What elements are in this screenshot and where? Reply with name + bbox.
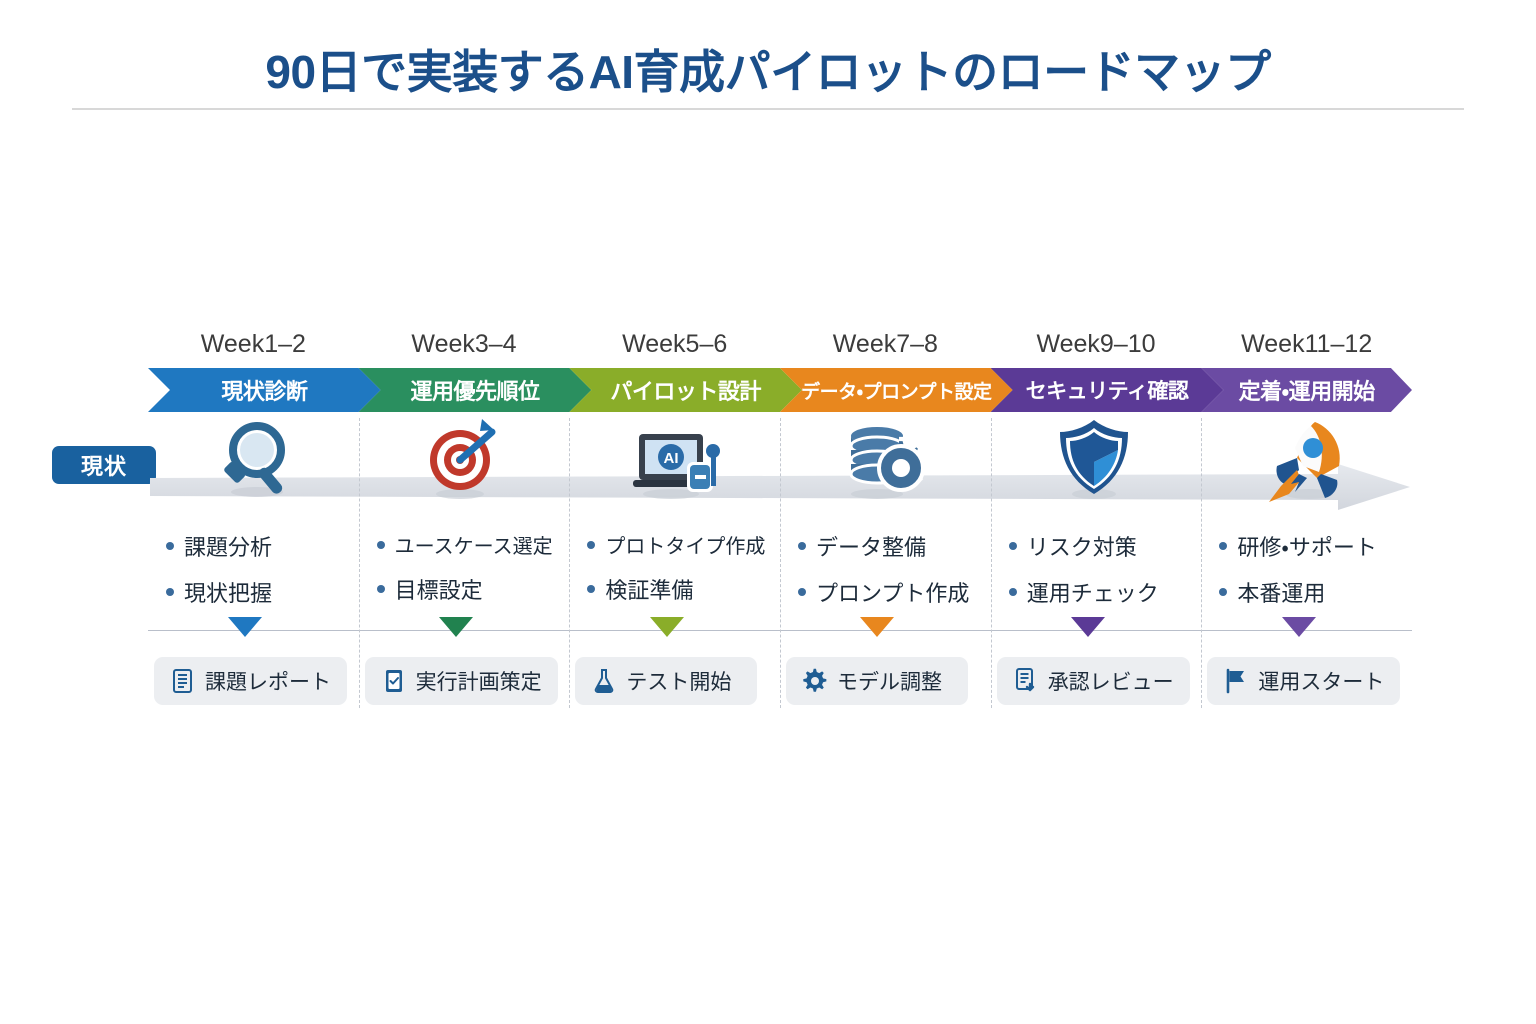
- database-gear-icon: [780, 418, 991, 518]
- bullet-label: 運用チェック: [1027, 576, 1159, 608]
- bullet-dot-icon: [166, 588, 174, 596]
- bullet-cell-3: プロトタイプ作成検証準備: [569, 530, 780, 622]
- deliverable-chip-2[interactable]: 実行計画策定: [365, 657, 558, 705]
- title-divider: [72, 108, 1464, 110]
- bullet-dot-icon: [587, 541, 595, 549]
- week-label-row: Week1–2Week3–4Week5–6Week7–8Week9–10Week…: [148, 330, 1412, 364]
- deliverable-chip-1[interactable]: 課題レポート: [154, 657, 347, 705]
- document-check-icon: [1013, 668, 1039, 694]
- week-label: Week3–4: [359, 330, 570, 359]
- rocket-icon: [1201, 418, 1412, 518]
- bullet-item: 研修・サポート: [1219, 530, 1412, 562]
- bullet-item: 課題分析: [166, 530, 359, 562]
- week-label: Week7–8: [780, 330, 991, 359]
- bullet-label: 目標設定: [395, 573, 483, 605]
- header: 90日で実装するAI育成パイロットのロードマップ: [0, 0, 1536, 112]
- deliverable-cell-3: テスト開始: [569, 655, 780, 707]
- bullet-item: 検証準備: [587, 573, 780, 605]
- phase-marker-triangle-2: [439, 617, 473, 637]
- bullet-cell-1: 課題分析現状把握: [148, 530, 359, 622]
- bullet-dot-icon: [798, 588, 806, 596]
- bullet-item: プロトタイプ作成: [587, 530, 780, 559]
- deliverable-label: 承認レビュー: [1048, 666, 1174, 696]
- phase-chevron-2[interactable]: 運用優先順位: [359, 368, 592, 412]
- bullet-dot-icon: [377, 585, 385, 593]
- flag-icon: [1223, 668, 1249, 694]
- bullet-item: プロンプト作成: [798, 576, 991, 608]
- bullet-dot-icon: [1009, 542, 1017, 550]
- bullet-cell-2: ユースケース選定目標設定: [359, 530, 570, 622]
- bullet-label: プロトタイプ作成: [605, 530, 765, 559]
- bullet-label: リスク対策: [1027, 530, 1137, 562]
- week-cell-4: Week7–8: [780, 330, 991, 364]
- laptop-ai-icon: AI: [569, 418, 780, 518]
- deliverable-label: 運用スタート: [1258, 666, 1384, 696]
- deliverable-cell-5: 承認レビュー: [991, 655, 1202, 707]
- bullet-item: データ整備: [798, 530, 991, 562]
- checklist-icon: [381, 668, 407, 694]
- phase-label: セキュリティ確認: [1026, 375, 1189, 405]
- phase-marker-triangle-3: [650, 617, 684, 637]
- deliverable-label: 課題レポート: [205, 666, 331, 696]
- gear-icon: [802, 668, 828, 694]
- deliverable-cell-1: 課題レポート: [148, 655, 359, 707]
- bullet-dot-icon: [377, 541, 385, 549]
- magnifier-icon: [148, 418, 359, 518]
- phase-chevron-5[interactable]: セキュリティ確認: [991, 368, 1224, 412]
- phase-label: データ・プロンプト設定: [801, 377, 991, 404]
- week-cell-3: Week5–6: [569, 330, 780, 364]
- deliverable-chip-3[interactable]: テスト開始: [575, 657, 757, 705]
- flask-icon: [591, 668, 617, 694]
- phase-marker-triangle-4: [860, 617, 894, 637]
- deliverable-label: 実行計画策定: [416, 666, 542, 696]
- phase-label: パイロット設計: [610, 374, 761, 406]
- deliverable-label: モデル調整: [837, 666, 942, 696]
- phase-marker-triangle-1: [228, 617, 262, 637]
- phase-chevron-band: 現状診断運用優先順位パイロット設計データ・プロンプト設定セキュリティ確認定着・運…: [148, 368, 1412, 412]
- bullet-label: 検証準備: [605, 573, 693, 605]
- bullet-cell-5: リスク対策運用チェック: [991, 530, 1202, 622]
- bullet-item: ユースケース選定: [377, 530, 570, 559]
- bullet-label: ユースケース選定: [395, 530, 553, 559]
- phase-label: 現状診断: [221, 374, 307, 406]
- bullet-label: プロンプト作成: [816, 576, 969, 608]
- week-label: Week5–6: [569, 330, 780, 359]
- phase-marker-triangle-5: [1071, 617, 1105, 637]
- week-label: Week11–12: [1201, 330, 1412, 359]
- bullet-cell-4: データ整備プロンプト作成: [780, 530, 991, 622]
- deliverable-cell-2: 実行計画策定: [359, 655, 570, 707]
- deliverable-cell-4: モデル調整: [780, 655, 991, 707]
- bullet-label: 研修・サポート: [1237, 530, 1376, 562]
- week-label: Week9–10: [991, 330, 1202, 359]
- shield-icon: [991, 418, 1202, 518]
- phase-label: 定着・運用開始: [1239, 374, 1375, 406]
- deliverable-label: テスト開始: [626, 666, 731, 696]
- phase-chevron-1[interactable]: 現状診断: [148, 368, 381, 412]
- phase-chevron-6[interactable]: 定着・運用開始: [1201, 368, 1412, 412]
- week-cell-5: Week9–10: [991, 330, 1202, 364]
- bullet-dot-icon: [166, 542, 174, 550]
- roadmap-diagram: 現状 Week1–2Week3–4Week5–6Week7–8Week9–10W…: [148, 330, 1412, 720]
- week-cell-1: Week1–2: [148, 330, 359, 364]
- column-separator-3: [780, 418, 781, 708]
- bullet-cell-6: 研修・サポート本番運用: [1201, 530, 1412, 622]
- status-badge: 現状: [52, 446, 156, 484]
- phase-chevron-3[interactable]: パイロット設計: [569, 368, 802, 412]
- bullet-item: 本番運用: [1219, 576, 1412, 608]
- week-label: Week1–2: [148, 330, 359, 359]
- bullet-dot-icon: [798, 542, 806, 550]
- bullet-label: データ整備: [816, 530, 926, 562]
- deliverable-chip-5[interactable]: 承認レビュー: [997, 657, 1190, 705]
- bullet-dot-icon: [587, 585, 595, 593]
- bullet-dot-icon: [1219, 542, 1227, 550]
- deliverable-chip-4[interactable]: モデル調整: [786, 657, 968, 705]
- status-badge-label: 現状: [81, 449, 127, 481]
- bullet-item: 現状把握: [166, 576, 359, 608]
- bullet-dot-icon: [1219, 588, 1227, 596]
- page-title: 90日で実装するAI育成パイロットのロードマップ: [0, 36, 1536, 102]
- phase-chevron-4[interactable]: データ・プロンプト設定: [780, 368, 1013, 412]
- bullet-item: リスク対策: [1009, 530, 1202, 562]
- column-separator-5: [1201, 418, 1202, 708]
- phase-marker-triangle-6: [1282, 617, 1316, 637]
- deliverable-chip-6[interactable]: 運用スタート: [1207, 657, 1400, 705]
- document-icon: [170, 668, 196, 694]
- column-separator-2: [569, 418, 570, 708]
- bullet-label: 課題分析: [184, 530, 272, 562]
- column-separator-1: [359, 418, 360, 708]
- bullet-dot-icon: [1009, 588, 1017, 596]
- deliverable-cell-6: 運用スタート: [1201, 655, 1412, 707]
- week-cell-2: Week3–4: [359, 330, 570, 364]
- bullet-item: 目標設定: [377, 573, 570, 605]
- phase-label: 運用優先順位: [410, 374, 539, 406]
- column-separator-4: [991, 418, 992, 708]
- target-icon: [359, 418, 570, 518]
- bullet-item: 運用チェック: [1009, 576, 1202, 608]
- bullet-label: 本番運用: [1237, 576, 1325, 608]
- svg-text:AI: AI: [663, 450, 678, 467]
- week-cell-6: Week11–12: [1201, 330, 1412, 364]
- bullet-label: 現状把握: [184, 576, 272, 608]
